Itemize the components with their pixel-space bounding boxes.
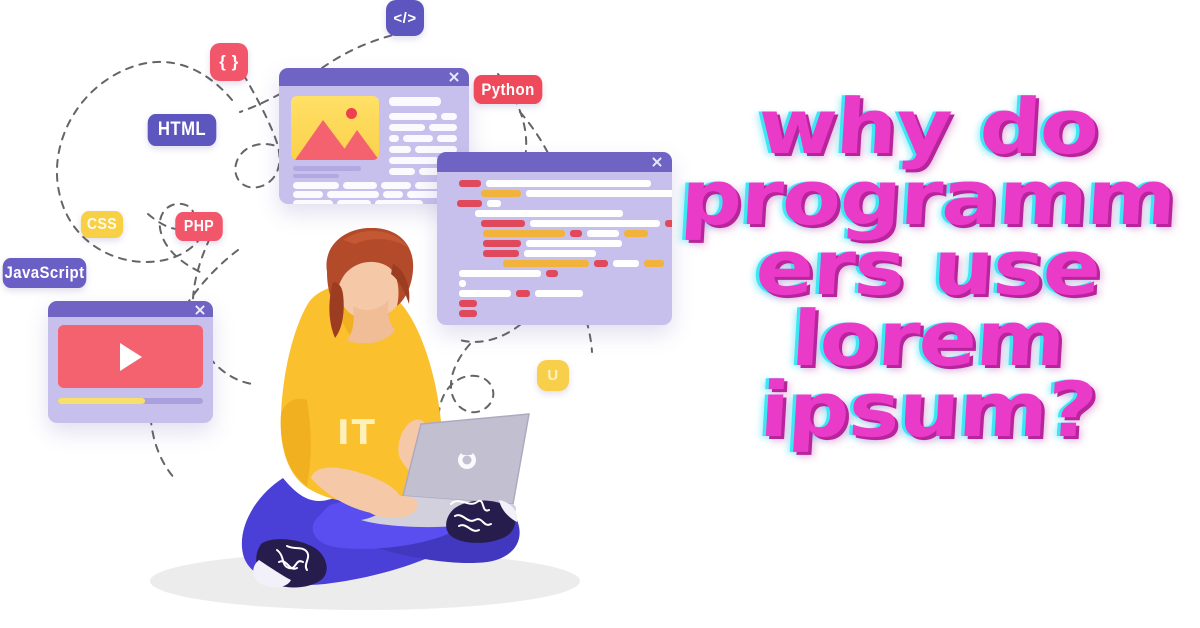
code-segment — [486, 180, 651, 187]
tag-python[interactable]: Python — [474, 75, 543, 104]
text-line — [327, 191, 379, 198]
mountain-shape-small — [337, 130, 379, 160]
text-line — [375, 200, 423, 204]
tag-label: { } — [219, 52, 238, 72]
progress-fill — [58, 398, 145, 404]
text-line — [337, 200, 371, 204]
text-line — [293, 182, 339, 189]
tag-javascript[interactable]: JavaScript — [3, 258, 87, 288]
video-screen[interactable] — [58, 325, 203, 388]
text-line — [389, 135, 399, 142]
tag-label: </> — [393, 10, 416, 27]
code-segment — [570, 230, 582, 237]
tag-label: JavaScript — [4, 263, 84, 283]
text-line — [389, 146, 411, 153]
tag-label: CSS — [87, 216, 117, 234]
text-line — [293, 200, 333, 204]
text-line — [389, 157, 439, 164]
video-content — [48, 317, 213, 423]
video-player-window[interactable] — [48, 301, 213, 423]
code-segment — [594, 260, 608, 267]
text-line — [343, 182, 377, 189]
seated-programmer: IT — [215, 228, 565, 628]
text-line — [437, 135, 457, 142]
image-placeholder — [291, 96, 379, 160]
headline-line-5: ipsum? — [632, 375, 1200, 446]
play-icon[interactable] — [120, 343, 142, 371]
sun-shape — [346, 108, 357, 119]
tag-curly-braces[interactable]: { } — [210, 43, 248, 81]
code-segment — [475, 210, 623, 217]
close-icon[interactable] — [194, 304, 204, 314]
tag-label: PHP — [184, 218, 214, 236]
text-line — [389, 168, 415, 175]
code-segment — [587, 230, 619, 237]
close-icon[interactable] — [448, 71, 460, 83]
text-line — [389, 97, 441, 106]
code-segment — [457, 200, 482, 207]
tag-label: Python — [481, 80, 534, 100]
window-titlebar — [48, 301, 213, 317]
illustration-canvas: </> { } Python HTML CSS PHP JavaScript U… — [0, 0, 1200, 628]
code-segment — [481, 190, 521, 197]
tag-css[interactable]: CSS — [81, 211, 123, 238]
tag-html[interactable]: HTML — [148, 114, 217, 146]
code-segment — [459, 180, 481, 187]
caption-line — [293, 166, 361, 171]
text-line — [383, 191, 403, 198]
window-titlebar — [279, 68, 469, 86]
text-line — [389, 124, 425, 131]
text-line — [381, 182, 411, 189]
svg-text:IT: IT — [337, 413, 377, 453]
tag-label: HTML — [158, 119, 206, 141]
page-title: why do programm ers use lorem ipsum? — [668, 92, 1188, 445]
text-line — [403, 135, 433, 142]
caption-line — [293, 174, 339, 178]
code-segment — [487, 200, 501, 207]
code-segment — [481, 220, 525, 227]
text-line — [441, 113, 457, 120]
text-line — [389, 113, 437, 120]
text-line — [429, 124, 457, 131]
text-line — [293, 191, 323, 198]
tag-code-brackets[interactable]: </> — [386, 0, 424, 36]
